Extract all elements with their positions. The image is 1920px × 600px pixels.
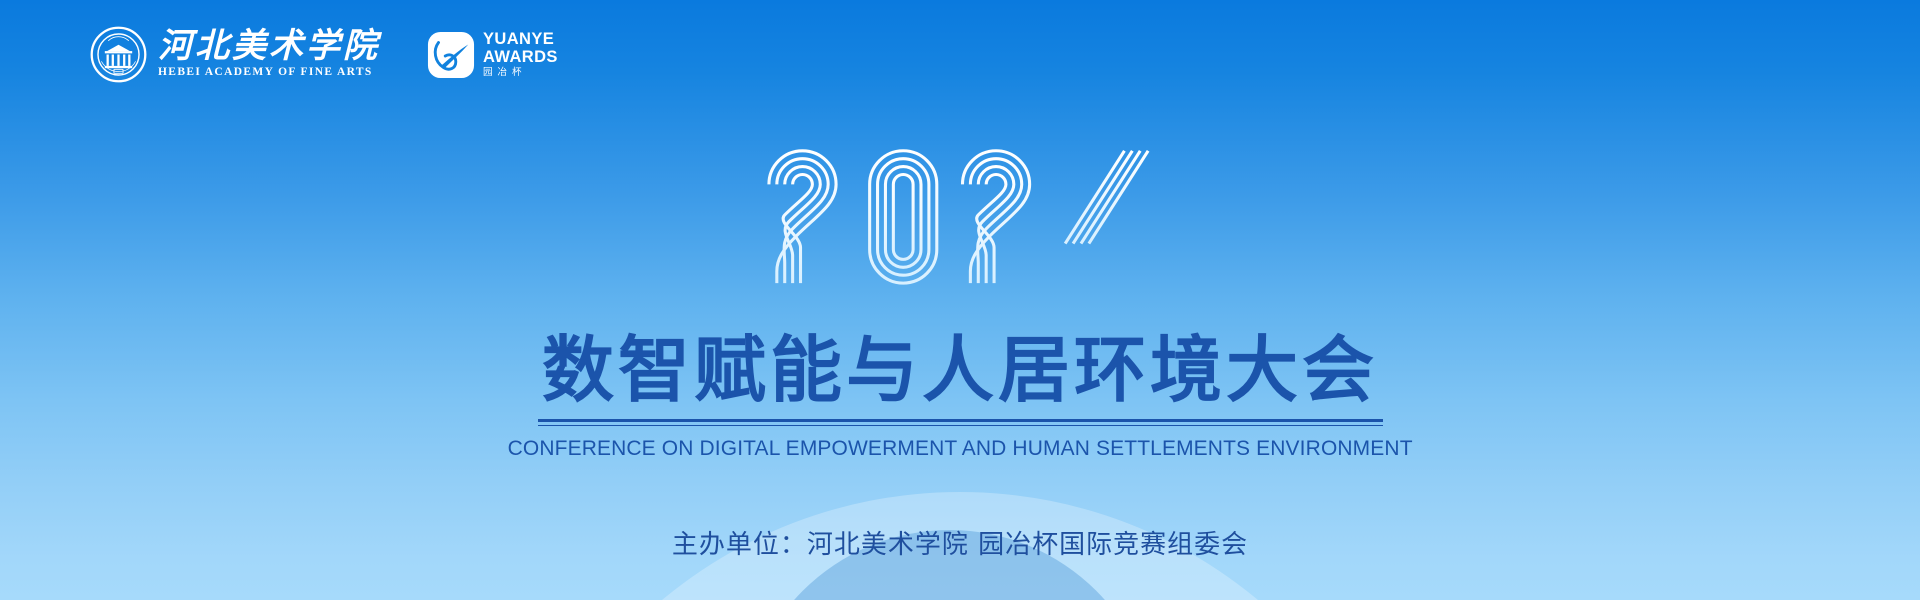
yuanye-awards-mark-icon [427,31,475,79]
conference-banner: 河北美术学院 HEBEI ACADEMY OF FINE ARTS YUANYE… [0,0,1920,600]
page-title-english: CONFERENCE ON DIGITAL EMPOWERMENT AND HU… [507,437,1412,461]
hebei-academy-crest-icon [90,26,147,83]
year-digit-1 [869,151,936,283]
hebei-academy-name-cn: 河北美术学院 [158,30,380,64]
page-title-chinese: 数智赋能与人居环境大会 [542,332,1378,410]
title-divider-thick-line [538,419,1383,422]
yuanye-awards-line1: YUANYE [483,31,558,48]
title-divider-thin-line [538,425,1383,427]
yuanye-awards-line2: AWARDS [483,49,558,66]
hebei-academy-name-en: HEBEI ACADEMY OF FINE ARTS [158,67,380,79]
yuanye-awards-name-cn: 园冶杯 [483,68,558,78]
year-digit-2 [962,151,1029,283]
title-block: 数智赋能与人居环境大会 CONFERENCE ON DIGITAL EMPOWE… [0,332,1920,461]
year-digit-2-base [970,253,1047,283]
year-digit-0 [768,151,835,283]
title-divider [538,419,1383,427]
organizer-line: 主办单位：河北美术学院 园冶杯国际竞赛组委会 [0,530,1920,561]
logo-yuanye-awards[interactable]: YUANYE AWARDS 园冶杯 [427,31,558,79]
logo-row: 河北美术学院 HEBEI ACADEMY OF FINE ARTS YUANYE… [90,26,558,83]
year-2024-graphic [763,133,1158,291]
year-digit-3 [1065,151,1148,283]
logo-hebei-academy-of-fine-arts[interactable]: 河北美术学院 HEBEI ACADEMY OF FINE ARTS [90,26,380,83]
year-digit-0-base [776,253,853,283]
hebei-academy-wordmark: 河北美术学院 HEBEI ACADEMY OF FINE ARTS [158,30,380,79]
year-graphic-wrap [0,133,1920,291]
yuanye-awards-wordmark: YUANYE AWARDS 园冶杯 [483,31,558,77]
